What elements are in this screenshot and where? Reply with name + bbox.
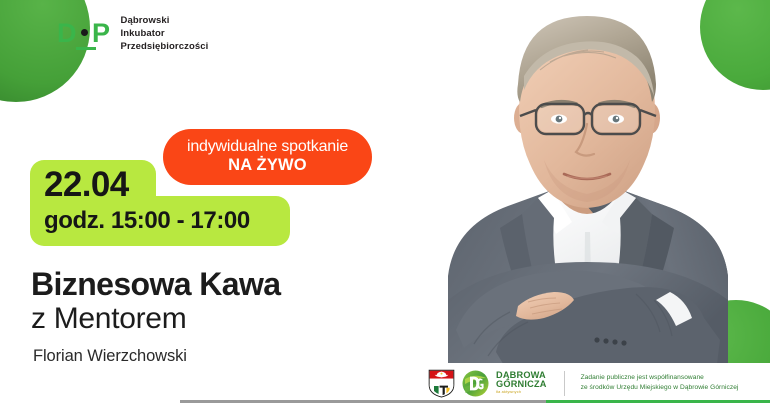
speaker-photo — [404, 0, 770, 372]
funding-statement-line2: ze środków Urzędu Miejskiego w Dąbrowie … — [581, 383, 739, 393]
logo-letter-d: D — [57, 20, 77, 47]
dabrowa-gornicza-logo-icon — [462, 370, 489, 397]
dip-logo: D P Dąbrowski Inkubator Przedsiębiorczoś… — [57, 14, 208, 53]
logo-text-line3: Przedsiębiorczości — [121, 40, 209, 53]
logo-text-line1: Dąbrowski — [121, 14, 209, 27]
funding-divider — [564, 371, 565, 396]
logo-underline-icon — [76, 47, 96, 50]
speaker-photo-illustration — [404, 0, 770, 372]
event-hours: godz. 15:00 - 17:00 — [44, 208, 250, 234]
logo-letter-p: P — [92, 20, 111, 47]
logo-text-line2: Inkubator — [121, 27, 209, 40]
dip-logo-mark: D P — [57, 20, 111, 47]
dip-logo-text: Dąbrowski Inkubator Przedsiębiorczości — [121, 14, 209, 53]
city-coat-of-arms-icon — [428, 369, 455, 398]
event-subtitle: z Mentorem — [31, 303, 186, 335]
live-meeting-badge: indywidualne spotkanie NA ŻYWO — [163, 129, 372, 185]
event-title: Biznesowa Kawa — [31, 267, 280, 302]
funding-statement-line1: Zadanie publiczne jest współfinansowane — [581, 373, 739, 383]
event-poster: D P Dąbrowski Inkubator Przedsiębiorczoś… — [0, 0, 770, 403]
live-badge-line1: indywidualne spotkanie — [187, 138, 348, 156]
dg-wordmark-tagline: łła aktywnych — [496, 391, 547, 395]
event-date: 22.04 — [44, 166, 129, 205]
live-badge-line2: NA ŻYWO — [228, 156, 307, 176]
dabrowa-gornicza-wordmark: DĄBROWA GÓRNICZA łła aktywnych — [496, 371, 547, 395]
logo-dot-icon — [81, 29, 88, 36]
funding-bar: DĄBROWA GÓRNICZA łła aktywnych Zadanie p… — [410, 363, 770, 403]
dg-wordmark-line2: GÓRNICZA — [496, 380, 547, 389]
funding-statement: Zadanie publiczne jest współfinansowane … — [581, 373, 739, 393]
funding-logos: DĄBROWA GÓRNICZA łła aktywnych Zadanie p… — [410, 369, 738, 398]
speaker-name: Florian Wierzchowski — [33, 347, 187, 365]
